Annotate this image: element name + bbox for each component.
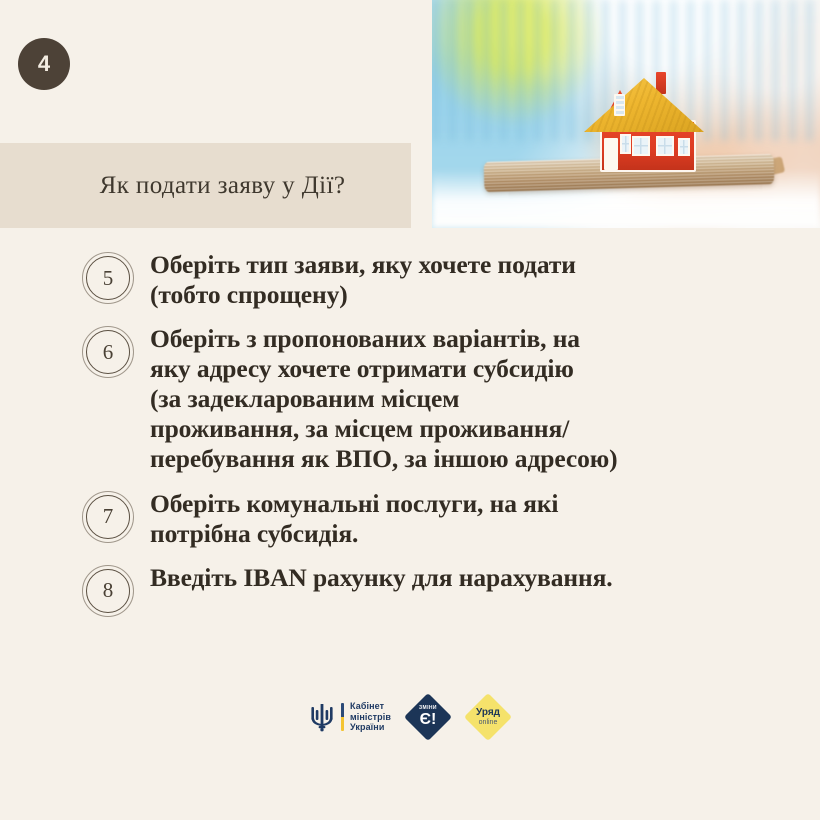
step-text-line: перебування як ВПО, за іншою адресою) [150, 444, 618, 474]
uryad-diamond-content: Уряд online [476, 708, 500, 726]
uryad-small-label: online [476, 719, 500, 726]
logo-zminy-ye: ЗМІНИ Є! [405, 694, 451, 740]
step-number-label: 7 [103, 504, 114, 529]
section-number-badge: 4 [18, 38, 70, 90]
steps-list: 5 Оберіть тип заяви, яку хочете подати (… [0, 250, 820, 631]
zminy-diamond: ЗМІНИ Є! [404, 693, 452, 741]
step-number-label: 8 [103, 578, 114, 603]
step-text: Оберіть тип заяви, яку хочете подати (то… [150, 250, 576, 310]
header-band: Як подати заяву у Дії? [0, 143, 411, 228]
house-gable-window [614, 94, 625, 116]
step-ring-inner: 5 [86, 256, 130, 300]
cmu-line-2: міністрів [350, 712, 391, 722]
step-text: Введіть IBAN рахунку для нарахування. [150, 563, 613, 593]
page-title: Як подати заяву у Дії? [0, 172, 411, 200]
step-number-circle: 8 [82, 565, 134, 617]
hero-photo [432, 0, 820, 228]
step-text-line: (тобто спрощену) [150, 280, 576, 310]
house-door [604, 138, 618, 170]
house-window [678, 138, 690, 156]
house-window [620, 134, 631, 154]
logo-uryad-online: Уряд online [465, 694, 511, 740]
step-number-circle: 6 [82, 326, 134, 378]
uryad-big-label: Уряд [476, 708, 500, 718]
house-window [632, 136, 650, 156]
step-text-line: потрібна субсидія. [150, 519, 558, 549]
step-number-circle: 5 [82, 252, 134, 304]
step-ring-inner: 6 [86, 330, 130, 374]
logo-cabinet-of-ministers: Кабінет міністрів України [309, 701, 391, 734]
step-text-line: Оберіть з пропонованих варіантів, на [150, 324, 618, 354]
zminy-diamond-content: ЗМІНИ Є! [419, 706, 437, 728]
house-window [656, 136, 674, 156]
step-text-line: Оберіть тип заяви, яку хочете подати [150, 250, 576, 280]
step-text: Оберіть з пропонованих варіантів, на яку… [150, 324, 618, 474]
infographic-page: 4 Як подати заяву у Дії? [0, 0, 820, 820]
uryad-diamond: Уряд online [464, 693, 512, 741]
house-roof [584, 78, 704, 132]
list-item: 6 Оберіть з пропонованих варіантів, на я… [0, 324, 820, 474]
toy-house-icon [584, 66, 704, 172]
footer-logos: Кабінет міністрів України ЗМІНИ Є! Уряд … [0, 694, 820, 740]
step-text-line: яку адресу хочете отримати субсидію [150, 354, 618, 384]
zminy-big-label: Є! [419, 712, 437, 728]
list-item: 8 Введіть IBAN рахунку для нарахування. [0, 563, 820, 617]
step-number-label: 5 [103, 266, 114, 291]
step-text-line: проживання, за місцем проживання/ [150, 414, 618, 444]
cmu-line-1: Кабінет [350, 701, 384, 711]
flag-divider [341, 703, 344, 731]
section-number-label: 4 [38, 53, 50, 75]
step-text-line: (за задекларованим місцем [150, 384, 618, 414]
step-ring-inner: 8 [86, 569, 130, 613]
trident-icon [309, 702, 335, 732]
step-text-line: Оберіть комунальні послуги, на які [150, 489, 558, 519]
step-number-circle: 7 [82, 491, 134, 543]
step-ring-inner: 7 [86, 495, 130, 539]
step-text-line: Введіть IBAN рахунку для нарахування. [150, 563, 613, 593]
list-item: 5 Оберіть тип заяви, яку хочете подати (… [0, 250, 820, 310]
list-item: 7 Оберіть комунальні послуги, на які пот… [0, 489, 820, 549]
step-number-label: 6 [103, 340, 114, 365]
step-text: Оберіть комунальні послуги, на які потрі… [150, 489, 558, 549]
cmu-line-3: України [350, 722, 384, 732]
cabinet-of-ministers-label: Кабінет міністрів України [350, 701, 391, 734]
